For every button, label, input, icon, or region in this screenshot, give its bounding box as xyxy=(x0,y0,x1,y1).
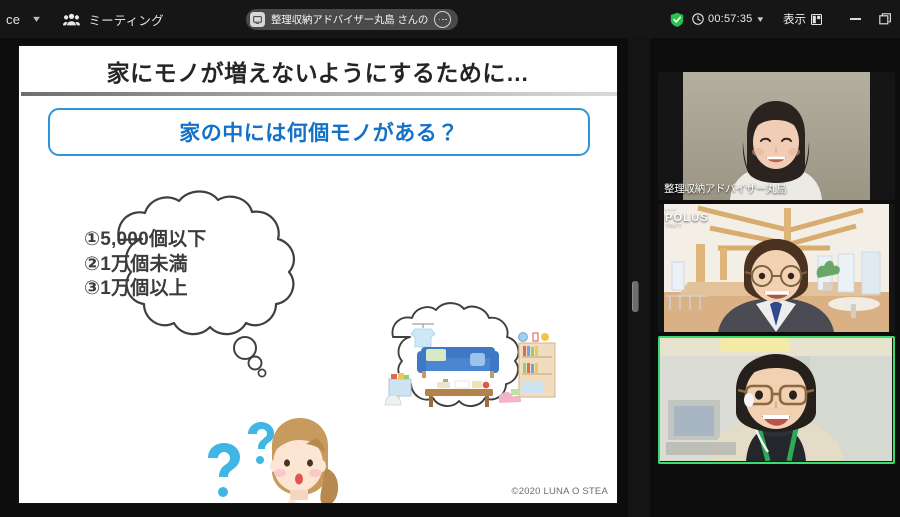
share-pill-label: 整理収納アドバイザー丸島 さんの xyxy=(271,12,428,27)
slide-copyright: ©2020 LUNA O STEA xyxy=(512,486,608,497)
participant-name-label: 整理収納アドバイザー丸島 xyxy=(664,181,786,196)
meeting-tab-label[interactable]: ミーティング xyxy=(88,10,163,29)
polus-logo-text: POLUS xyxy=(665,212,709,224)
timer-value: 00:57:35 xyxy=(708,13,752,25)
option-1: ①5,000個以下 xyxy=(84,228,334,253)
thinking-woman-illustration xyxy=(194,406,354,504)
panel-resize-handle[interactable] xyxy=(632,281,639,312)
view-layout-button[interactable]: 表示 xyxy=(783,11,822,27)
cluttered-room-illustration xyxy=(359,301,609,436)
view-label: 表示 xyxy=(783,11,806,27)
polus-logo: ● ● ● POLUS プロピア xyxy=(665,208,709,227)
people-icon[interactable] xyxy=(63,13,80,26)
answer-options: ①5,000個以下 ②1万個未満 ③1万個以上 xyxy=(84,228,334,302)
meeting-timer[interactable]: 00:57:35 ▾ xyxy=(692,13,763,25)
slide-title: 家にモノが増えないようにするために… xyxy=(19,54,617,88)
window-toolbar: ce ▾ ミーティング 整理収納アド xyxy=(0,0,900,38)
question-text: 家の中には何個モノがある？ xyxy=(179,117,459,147)
clock-icon xyxy=(692,13,704,25)
polus-logo-tagline-bottom: プロピア xyxy=(665,224,709,228)
toolbar-left-group: ce ▾ ミーティング xyxy=(0,0,164,38)
more-options-icon[interactable] xyxy=(434,11,451,28)
question-box: 家の中には何個モノがある？ xyxy=(48,108,590,156)
screen-share-icon xyxy=(250,12,265,27)
chevron-down-icon[interactable]: ▾ xyxy=(758,14,764,25)
shield-check-icon[interactable] xyxy=(670,12,684,27)
workspace-name[interactable]: ce xyxy=(2,12,20,27)
chevron-down-icon[interactable]: ▾ xyxy=(33,14,40,25)
option-3: ③1万個以上 xyxy=(84,277,334,302)
option-2: ②1万個未満 xyxy=(84,253,334,278)
window-controls xyxy=(840,0,900,38)
minimize-icon[interactable] xyxy=(840,0,870,38)
shared-screen-stage[interactable]: 家にモノが増えないようにするために… 家の中には何個モノがある？ ①5,000個… xyxy=(0,38,628,517)
title-divider xyxy=(21,92,617,96)
meeting-window: ce ▾ ミーティング 整理収納アド xyxy=(0,0,900,517)
participant-tile-3[interactable] xyxy=(658,336,895,464)
toolbar-right-group: 00:57:35 ▾ 表示 xyxy=(670,0,900,38)
presentation-slide: 家にモノが増えないようにするために… 家の中には何個モノがある？ ①5,000個… xyxy=(18,45,618,504)
participant-tile-1[interactable]: 整理収納アドバイザー丸島 xyxy=(658,72,895,200)
participant-tile-2[interactable]: ● ● ● POLUS プロピア xyxy=(658,204,895,332)
panel-divider xyxy=(628,38,650,517)
layout-icon xyxy=(811,14,822,25)
screen-share-pill[interactable]: 整理収納アドバイザー丸島 さんの xyxy=(246,9,458,30)
restore-window-icon[interactable] xyxy=(870,0,900,38)
question-mark-icon xyxy=(208,422,274,497)
thought-bubble-icon: ①5,000個以下 ②1万個未満 ③1万個以上 xyxy=(57,188,357,388)
participant-video-rail: 整理収納アドバイザー丸島 xyxy=(650,38,900,517)
